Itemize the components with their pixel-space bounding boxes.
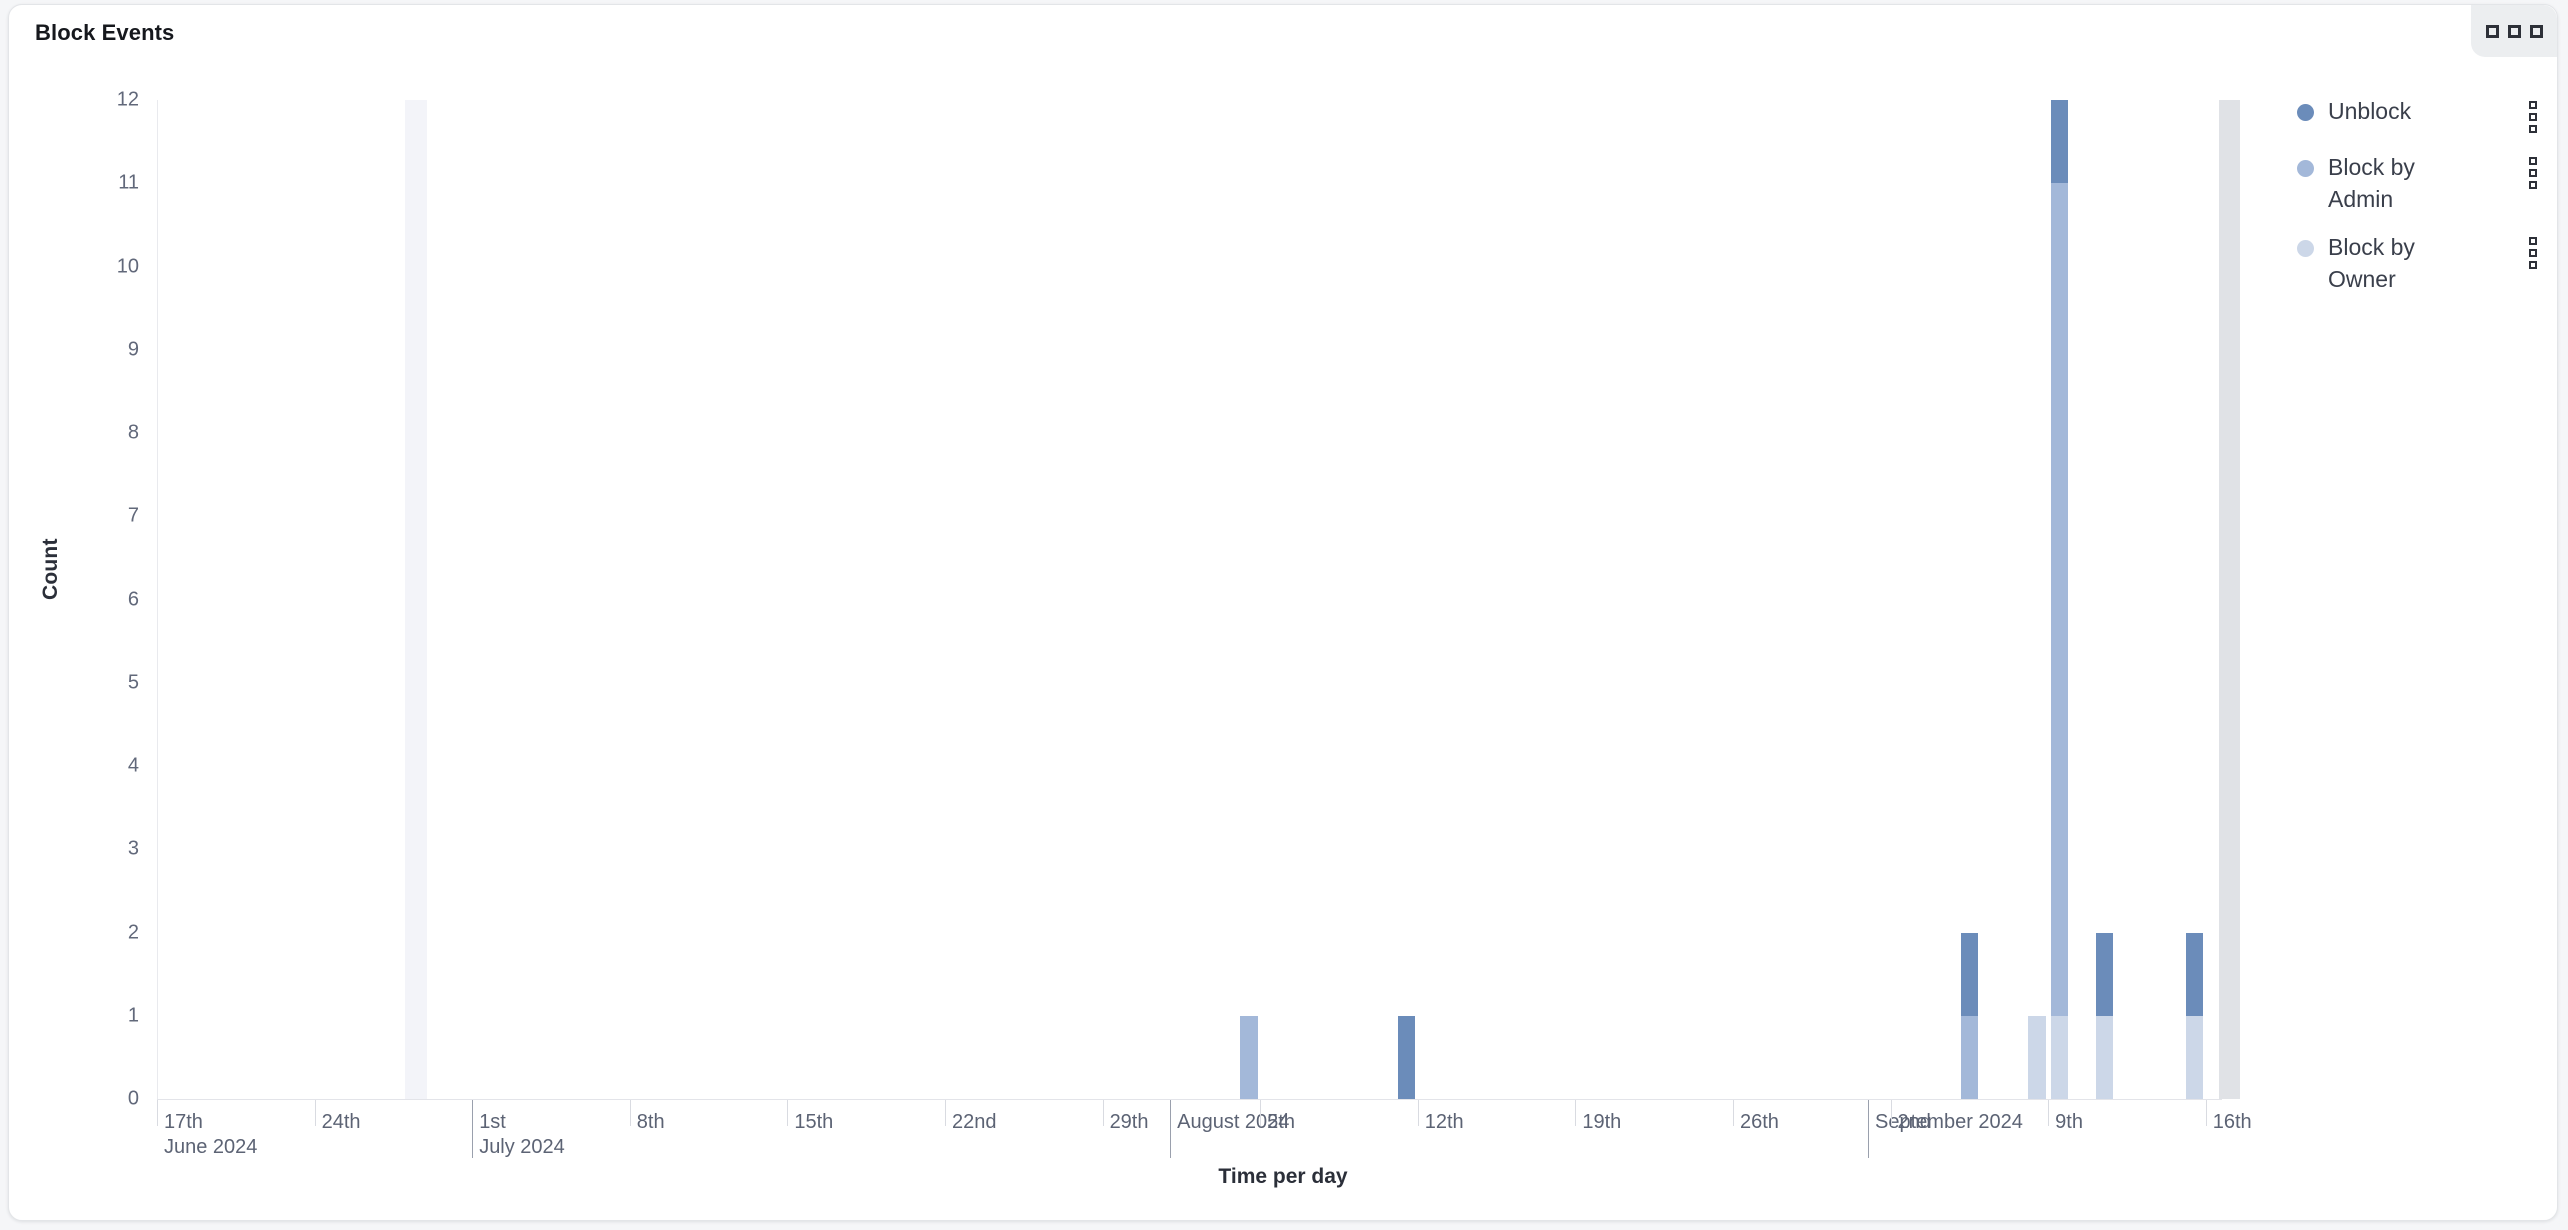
partial-period-band [2219, 100, 2239, 1099]
legend-item-label: Block by Admin [2328, 151, 2468, 215]
legend-item-block-by-admin[interactable]: Block by Admin [2297, 151, 2557, 215]
plot-frame [157, 100, 2217, 1099]
x-axis-tick-mark [787, 1100, 788, 1126]
y-axis-tick-labels: 0123456789101112 [9, 5, 157, 1004]
bar-segment-unblock[interactable] [2096, 933, 2114, 1016]
x-axis-tick-mark [1170, 1100, 1171, 1158]
x-axis-tick-label: 9th [2055, 1110, 2083, 1135]
vertical-dots-menu-icon [2529, 249, 2537, 257]
x-axis-tick-label: 5th [1267, 1110, 1295, 1135]
bar-2024-09-08[interactable] [2028, 1016, 2046, 1099]
legend-color-dot [2297, 160, 2314, 177]
y-axis-tick-label: 11 [118, 172, 139, 195]
x-tick-day: 24th [322, 1111, 361, 1133]
legend-color-dot [2297, 104, 2314, 121]
y-axis-tick-label: 7 [128, 505, 139, 528]
screenshot-root: Block Events Count Time per day 01234567… [0, 0, 2568, 1230]
x-axis-tick-mark [1103, 1100, 1104, 1126]
y-axis-tick-label: 0 [128, 1088, 139, 1111]
bar-segment-unblock[interactable] [1961, 933, 1979, 1016]
y-axis-tick-label: 8 [128, 422, 139, 445]
horizontal-dots-menu-icon [2486, 25, 2499, 38]
y-axis-tick-label: 4 [128, 755, 139, 778]
y-axis-tick-label: 1 [128, 1004, 139, 1027]
bar-segment-block-by-owner[interactable] [2028, 1016, 2046, 1099]
x-tick-day: 12th [1425, 1111, 1464, 1133]
bar-segment-block-by-admin[interactable] [1240, 1016, 1258, 1099]
x-axis-line [157, 1099, 2222, 1100]
legend-item-menu-button[interactable] [2529, 237, 2537, 269]
bar-segment-block-by-owner[interactable] [2096, 1016, 2114, 1099]
x-tick-day: 1st [479, 1111, 506, 1133]
x-axis-tick-mark [2206, 1100, 2207, 1126]
x-axis-tick-label: 22nd [952, 1110, 997, 1135]
x-tick-day: 16th [2213, 1111, 2252, 1133]
x-tick-month: June 2024 [164, 1135, 257, 1160]
vertical-dots-menu-icon [2529, 157, 2537, 165]
bar-segment-block-by-owner[interactable] [2051, 1016, 2069, 1099]
bar-segment-block-by-owner[interactable] [2186, 1016, 2204, 1099]
legend-item-label: Block by Owner [2328, 231, 2468, 295]
horizontal-dots-menu-icon [2508, 25, 2521, 38]
vertical-dots-menu-icon [2529, 101, 2537, 109]
bar-2024-09-09[interactable] [2051, 100, 2069, 1099]
y-axis-tick-label: 12 [117, 89, 139, 112]
x-axis-tick-label: 2nd [1898, 1110, 1931, 1135]
vertical-dots-menu-icon [2529, 237, 2537, 245]
legend-item-menu-button[interactable] [2529, 101, 2537, 133]
x-tick-day: 15th [794, 1111, 833, 1133]
y-axis-tick-label: 5 [128, 671, 139, 694]
x-axis-tick-mark [157, 1100, 158, 1126]
legend-color-dot [2297, 240, 2314, 257]
x-axis-tick-mark [1575, 1100, 1576, 1126]
x-tick-day: 26th [1740, 1111, 1779, 1133]
horizontal-dots-menu-icon [2530, 25, 2543, 38]
vertical-dots-menu-icon [2529, 113, 2537, 121]
bar-2024-09-05[interactable] [1961, 933, 1979, 1100]
vertical-dots-menu-icon [2529, 125, 2537, 133]
vertical-dots-menu-icon [2529, 181, 2537, 189]
legend-item-label: Unblock [2328, 95, 2411, 127]
bar-segment-unblock[interactable] [2186, 933, 2204, 1016]
bar-segment-block-by-admin[interactable] [1961, 1016, 1979, 1099]
legend-item-menu-button[interactable] [2529, 157, 2537, 189]
x-axis-tick-mark [1891, 1100, 1892, 1126]
x-tick-day: 17th [164, 1111, 203, 1133]
bar-2024-09-15[interactable] [2186, 933, 2204, 1100]
x-axis-tick-label: 17thJune 2024 [164, 1110, 257, 1160]
x-axis-tick-mark [1418, 1100, 1419, 1126]
x-tick-day: 2nd [1898, 1111, 1931, 1133]
y-axis-tick-label: 10 [117, 255, 139, 278]
x-axis-tick-mark [2048, 1100, 2049, 1126]
x-axis-tick-mark [1868, 1100, 1869, 1158]
x-axis-tick-mark [945, 1100, 946, 1126]
x-axis-tick-mark [315, 1100, 316, 1126]
x-axis-tick-label: 15th [794, 1110, 833, 1135]
bar-2024-08-04[interactable] [1240, 1016, 1258, 1099]
bar-2024-09-11[interactable] [2096, 933, 2114, 1100]
y-axis-tick-label: 6 [128, 588, 139, 611]
x-axis-tick-label: 8th [637, 1110, 665, 1135]
legend-item-unblock[interactable]: Unblock [2297, 95, 2557, 135]
x-tick-day: 5th [1267, 1111, 1295, 1133]
y-axis-tick-label: 3 [128, 838, 139, 861]
bar-segment-unblock[interactable] [1398, 1016, 1416, 1099]
bar-segment-unblock[interactable] [2051, 100, 2069, 183]
x-axis-tick-label: 26th [1740, 1110, 1779, 1135]
bar-segment-block-by-admin[interactable] [2051, 183, 2069, 1016]
x-axis-tick-label: 16th [2213, 1110, 2252, 1135]
vertical-dots-menu-icon [2529, 169, 2537, 177]
x-tick-day: 19th [1582, 1111, 1621, 1133]
plot-area[interactable] [157, 100, 2217, 1099]
x-axis-tick-mark [1260, 1100, 1261, 1126]
panel-menu-button[interactable] [2471, 5, 2557, 57]
x-axis-tick-label: 1stJuly 2024 [479, 1110, 565, 1160]
x-axis-tick-mark [1733, 1100, 1734, 1126]
y-axis-tick-label: 9 [128, 338, 139, 361]
x-axis-tick-mark [630, 1100, 631, 1126]
highlight-band-left [405, 100, 428, 1099]
x-axis-tick-label: 29th [1110, 1110, 1149, 1135]
x-tick-month: July 2024 [479, 1135, 565, 1160]
vertical-dots-menu-icon [2529, 261, 2537, 269]
y-axis-tick-label: 2 [128, 921, 139, 944]
x-tick-day: 29th [1110, 1111, 1149, 1133]
x-axis-label: Time per day [9, 1165, 2557, 1189]
x-tick-day: 8th [637, 1111, 665, 1133]
x-tick-day: 9th [2055, 1111, 2083, 1133]
x-axis-tick-label: 24th [322, 1110, 361, 1135]
legend: UnblockBlock by AdminBlock by Owner [2297, 95, 2557, 311]
block-events-panel: Block Events Count Time per day 01234567… [8, 4, 2558, 1221]
x-axis-tick-label: 19th [1582, 1110, 1621, 1135]
x-tick-day: 22nd [952, 1111, 997, 1133]
bar-2024-08-11[interactable] [1398, 1016, 1416, 1099]
x-axis-tick-label: 12th [1425, 1110, 1464, 1135]
x-axis-tick-mark [472, 1100, 473, 1158]
legend-item-block-by-owner[interactable]: Block by Owner [2297, 231, 2557, 295]
